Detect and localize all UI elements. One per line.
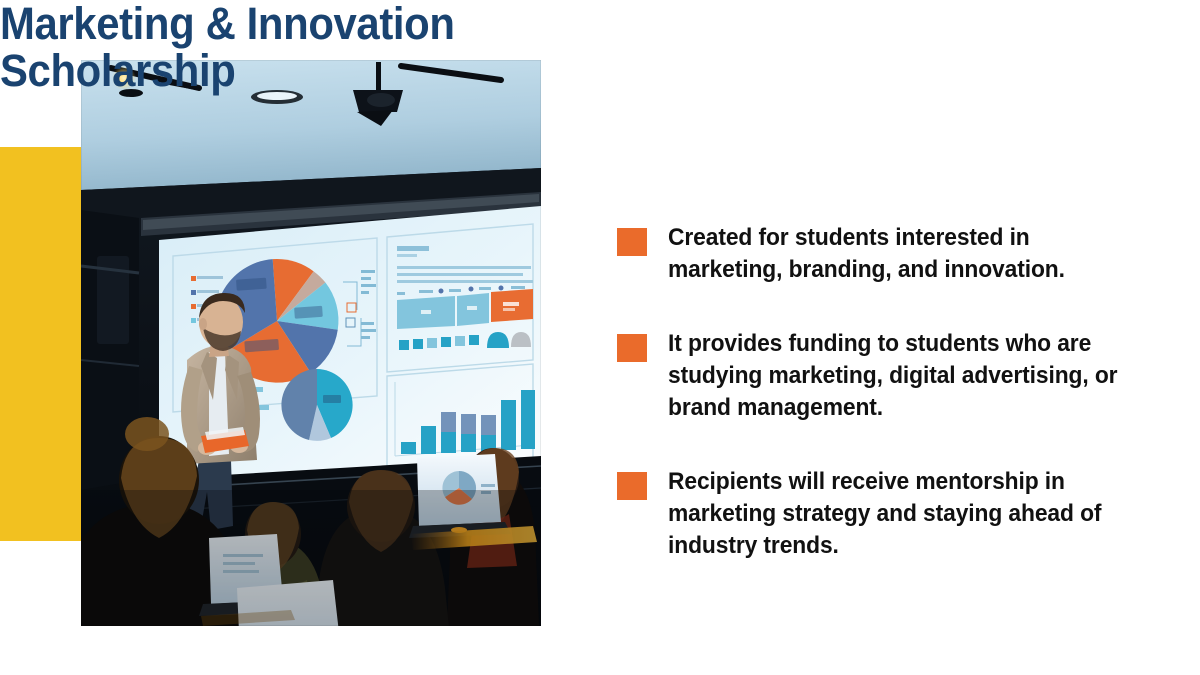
list-item-text: Created for students interested in marke…: [668, 222, 1143, 286]
page-title: Marketing & Innovation Scholarship: [0, 0, 502, 94]
photo-illustration: [81, 60, 541, 626]
square-bullet-icon: [617, 472, 647, 500]
list-item-text: Recipients will receive mentorship in ma…: [668, 466, 1143, 562]
list-item: Created for students interested in marke…: [617, 222, 1127, 286]
list-item: It provides funding to students who are …: [617, 328, 1127, 424]
slide-canvas: Marketing & Innovation Scholarship Creat…: [0, 0, 1200, 675]
square-bullet-icon: [617, 334, 647, 362]
square-bullet-icon: [617, 228, 647, 256]
left-accent-block: [0, 147, 82, 541]
list-item: Recipients will receive mentorship in ma…: [617, 466, 1127, 562]
list-item-text: It provides funding to students who are …: [668, 328, 1143, 424]
presentation-photo: [81, 60, 541, 626]
bullet-list: Created for students interested in marke…: [617, 222, 1127, 562]
